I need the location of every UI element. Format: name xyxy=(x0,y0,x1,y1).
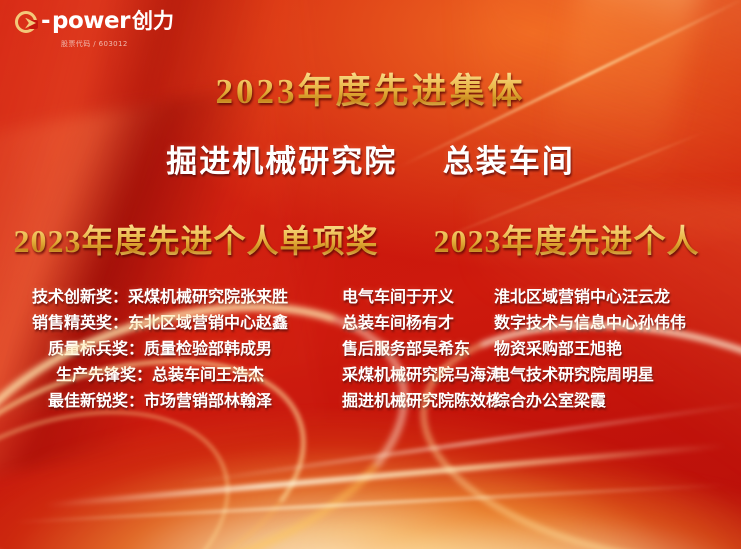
stock-code-label: 股票代码 / 603012 xyxy=(61,39,128,49)
winner-name: 电气车间于开义 xyxy=(342,285,494,311)
collective-winner-2: 总装车间 xyxy=(443,144,575,179)
logo-wordmark: power xyxy=(52,10,130,33)
section-headings: 2023年度先进个人单项奖 2023年度先进个人 xyxy=(0,216,741,262)
logo-row: - power 创力 xyxy=(15,10,174,33)
logo-wordmark-prefix: - xyxy=(41,10,50,33)
logo-name-cn: 创力 xyxy=(132,11,174,32)
c-power-logo-mark-icon xyxy=(15,11,37,33)
collective-winners: 掘进机械研究院 总装车间 xyxy=(0,136,741,181)
heading-individual-awards: 2023年度先进个人 xyxy=(392,216,741,262)
company-logo: - power 创力 股票代码 / 603012 xyxy=(15,10,174,49)
table-row: 电气车间于开义 淮北区域营销中心汪云龙 xyxy=(342,285,741,311)
page-title: 2023年度先进集体 xyxy=(0,63,741,114)
collective-winner-1: 掘进机械研究院 xyxy=(166,144,397,179)
winner-name: 淮北区域营销中心汪云龙 xyxy=(494,285,741,311)
award-poster: - power 创力 股票代码 / 603012 2023年度先进集体 掘进机械… xyxy=(0,0,741,549)
heading-single-awards: 2023年度先进个人单项奖 xyxy=(0,216,392,262)
